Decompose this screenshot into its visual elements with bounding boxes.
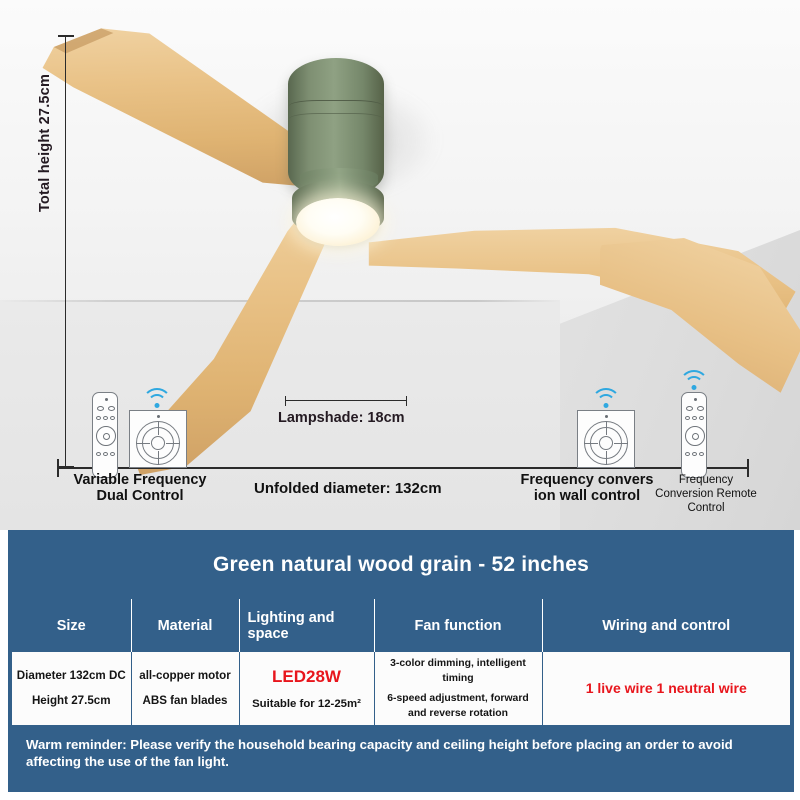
- wall-fan-ring-inner: [599, 436, 613, 450]
- wifi-icon-right: [677, 370, 711, 390]
- cell-material-line-1: all-copper motor: [136, 668, 235, 685]
- wifi-dot: [692, 385, 697, 390]
- wall-fan-spoke: [158, 451, 159, 465]
- remote-btn: [699, 452, 704, 456]
- cell-wiring: 1 live wire 1 neutral wire: [542, 652, 790, 725]
- cell-fan-function-line-1: 3-color dimming, intelligent timing: [379, 656, 538, 686]
- cell-lighting-area: Suitable for 12-25m²: [244, 696, 370, 713]
- remote-dial-center: [103, 433, 110, 440]
- cell-lighting-wattage: LED28W: [244, 665, 370, 690]
- table-row: Diameter 132cm DC Height 27.5cm all-copp…: [12, 652, 790, 725]
- wall-fan-spoke: [606, 451, 607, 465]
- wall-fan-spoke: [166, 443, 180, 444]
- remote-btn: [96, 416, 101, 420]
- spec-table-head: Size Material Lighting and space Fan fun…: [12, 599, 790, 652]
- remote-body: [681, 392, 707, 478]
- column-header-wiring-and-control: Wiring and control: [542, 599, 790, 652]
- wall-fan-ring-inner: [151, 436, 165, 450]
- control-label-frequency-conversion-remote: Frequency Conversion Remote Control: [639, 474, 773, 515]
- product-infographic: Total height 27.5cm Lampshade: 18cm Unfo…: [0, 0, 800, 800]
- remote-btn: [96, 452, 101, 456]
- remote-btn: [692, 416, 697, 420]
- cell-size-line-2: Height 27.5cm: [16, 693, 127, 710]
- total-height-label: Total height 27.5cm: [37, 53, 53, 233]
- remote-btn: [699, 416, 704, 420]
- wifi-icon-left: [140, 388, 174, 408]
- wall-fan-spoke: [158, 421, 159, 435]
- wall-fan-spoke: [136, 443, 150, 444]
- wall-fan-spoke: [606, 421, 607, 435]
- spec-panel: Green natural wood grain - 52 inches Siz…: [8, 530, 794, 792]
- remote-led-dot: [105, 398, 108, 401]
- ceiling-fan: [0, 0, 800, 530]
- cell-material: all-copper motor ABS fan blades: [131, 652, 239, 725]
- remote-btn: [692, 452, 697, 456]
- remote-control-icon-right: [681, 392, 707, 478]
- column-header-size: Size: [12, 599, 131, 652]
- spec-table: Size Material Lighting and space Fan fun…: [12, 599, 790, 725]
- remote-btn: [685, 452, 690, 456]
- lampshade-bar: [285, 400, 407, 401]
- spec-header-row: Size Material Lighting and space Fan fun…: [12, 599, 790, 652]
- panel-title: Green natural wood grain - 52 inches: [12, 534, 790, 596]
- wifi-icon-middle: [589, 388, 623, 408]
- lampshade-dimension-bar: [285, 396, 407, 406]
- cell-wiring-text: 1 live wire 1 neutral wire: [586, 680, 747, 696]
- remote-btn: [110, 452, 115, 456]
- wall-control-icon-left: [129, 410, 187, 468]
- remote-btn: [697, 406, 704, 411]
- product-photo: Total height 27.5cm Lampshade: 18cm Unfo…: [0, 0, 800, 530]
- cell-fan-function-line-2: 6-speed adjustment, forward and reverse …: [379, 691, 538, 721]
- remote-btn: [103, 452, 108, 456]
- control-label-variable-frequency-dual: Variable Frequency Dual Control: [45, 472, 235, 504]
- remote-btn: [103, 416, 108, 420]
- cell-size: Diameter 132cm DC Height 27.5cm: [12, 652, 131, 725]
- column-header-lighting-and-space: Lighting and space: [239, 599, 374, 652]
- warm-reminder-note: Warm reminder: Please verify the househo…: [12, 730, 790, 778]
- wall-fan-spoke: [614, 443, 628, 444]
- remote-btn: [686, 406, 693, 411]
- wall-panel-body: [129, 410, 187, 468]
- wall-fan-spoke: [584, 443, 598, 444]
- led-light-disc: [296, 198, 380, 246]
- wall-control-icon-right: [577, 410, 635, 468]
- column-header-material: Material: [131, 599, 239, 652]
- lampshade-label: Lampshade: 18cm: [278, 410, 438, 426]
- cell-material-line-2: ABS fan blades: [136, 693, 235, 710]
- remote-dial-center: [692, 433, 699, 440]
- remote-control-icon-left: [92, 392, 118, 478]
- cell-fan-function: 3-color dimming, intelligent timing 6-sp…: [374, 652, 542, 725]
- cell-lighting: LED28W Suitable for 12-25m²: [239, 652, 374, 725]
- remote-btn: [110, 416, 115, 420]
- height-dimension-line: [65, 35, 66, 467]
- column-header-fan-function: Fan function: [374, 599, 542, 652]
- wifi-dot: [604, 403, 609, 408]
- wifi-dot: [155, 403, 160, 408]
- remote-btn: [108, 406, 115, 411]
- lampshade-cap-right: [406, 396, 407, 406]
- spec-table-body: Diameter 132cm DC Height 27.5cm all-copp…: [12, 652, 790, 725]
- motor-seam-upper: [289, 100, 383, 112]
- motor-seam-lower: [289, 113, 383, 125]
- remote-btn: [685, 416, 690, 420]
- cell-size-line-1: Diameter 132cm DC: [16, 668, 127, 685]
- remote-btn: [97, 406, 104, 411]
- remote-body: [92, 392, 118, 478]
- wall-panel-body: [577, 410, 635, 468]
